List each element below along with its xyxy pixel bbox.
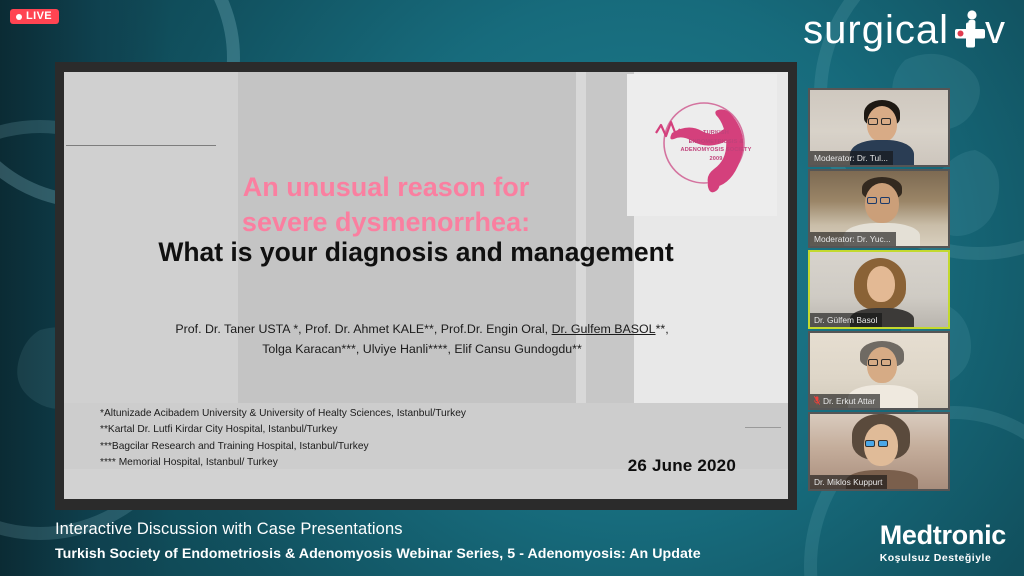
sponsor-name: Medtronic	[880, 522, 1006, 549]
sponsor-tagline: Koşulsuz Desteğiyle	[880, 552, 1006, 564]
live-dot-icon	[16, 14, 22, 20]
participant-name: Dr. Erkut Attar	[823, 396, 875, 407]
glasses-icon	[868, 118, 891, 125]
participant-name: Moderator: Dr. Tul...	[814, 153, 888, 164]
live-label: LIVE	[26, 11, 52, 22]
participant-name-label: Dr. Gülfem Basol	[810, 313, 882, 328]
microphone-muted-icon	[814, 396, 820, 405]
affiliation-item: **** Memorial Hospital, Istanbul/ Turkey	[100, 455, 466, 471]
medtronic-sponsor-logo: Medtronic Koşulsuz Desteğiyle	[880, 522, 1006, 564]
slide-top-rule	[66, 145, 216, 146]
avatar	[867, 266, 895, 302]
authors-line-1: Prof. Dr. Taner USTA *, Prof. Dr. Ahmet …	[116, 319, 728, 339]
webinar-stream-view: LIVE surgical v	[0, 0, 1024, 576]
authors-part-b: **,	[656, 322, 669, 336]
slide-title-line1: An unusual reason for	[124, 170, 648, 205]
participant-tile[interactable]: Moderator: Dr. Tul...	[808, 88, 950, 167]
society-logo-text: TURKISH ENDOMETRIOSIS & ADENOMYOSIS SOCI…	[680, 129, 752, 164]
participant-tile[interactable]: Dr. Erkut Attar	[808, 331, 950, 410]
participant-name-label: Moderator: Dr. Yuc...	[810, 232, 896, 247]
slide-date: 26 June 2020	[628, 456, 736, 476]
authors-highlighted-presenter: Dr. Gulfem BASOL	[552, 322, 656, 336]
banner-series-subtitle: Turkish Society of Endometriosis & Adeno…	[55, 546, 701, 562]
slide-title: An unusual reason for severe dysmenorrhe…	[64, 170, 788, 240]
slide-title-line2: severe dysmenorrhea:	[124, 205, 648, 240]
participant-name-label: Dr. Erkut Attar	[810, 394, 880, 409]
participant-tile[interactable]: Dr. Miklos Kuppurt	[808, 412, 950, 491]
glasses-icon	[865, 440, 888, 447]
glasses-icon	[867, 197, 890, 204]
slide-authors: Prof. Dr. Taner USTA *, Prof. Dr. Ahmet …	[116, 319, 728, 359]
participant-tile[interactable]: Moderator: Dr. Yuc...	[808, 169, 950, 248]
bottom-banner: Interactive Discussion with Case Present…	[0, 510, 1024, 576]
banner-session-title: Interactive Discussion with Case Present…	[55, 520, 403, 539]
authors-part-a: Prof. Dr. Taner USTA *, Prof. Dr. Ahmet …	[175, 322, 551, 336]
brand-word: surgical	[803, 10, 949, 50]
authors-line-2: Tolga Karacan***, Ulviye Hanli****, Elif…	[116, 339, 728, 359]
participant-tile-active-speaker[interactable]: Dr. Gülfem Basol	[808, 250, 950, 329]
participant-name: Dr. Miklos Kuppurt	[814, 477, 882, 488]
shared-screen-stage[interactable]: TURKISH ENDOMETRIOSIS & ADENOMYOSIS SOCI…	[55, 62, 797, 510]
participant-name: Dr. Gülfem Basol	[814, 315, 877, 326]
slide-affiliations: *Altunizade Acibadem University & Univer…	[100, 406, 466, 471]
slide-date-rule	[745, 427, 781, 428]
glasses-icon	[868, 359, 891, 366]
surgical-brand-logo: surgical v	[803, 8, 1006, 52]
affiliation-item: ***Bagcilar Research and Training Hospit…	[100, 439, 466, 455]
presentation-slide: TURKISH ENDOMETRIOSIS & ADENOMYOSIS SOCI…	[64, 72, 788, 499]
participant-name-label: Dr. Miklos Kuppurt	[810, 475, 887, 490]
live-badge: LIVE	[10, 9, 59, 24]
affiliation-item: **Kartal Dr. Lutfi Kirdar City Hospital,…	[100, 422, 466, 438]
participant-video-strip: Moderator: Dr. Tul... Moderator: Dr. Yuc…	[808, 88, 950, 491]
affiliation-item: *Altunizade Acibadem University & Univer…	[100, 406, 466, 422]
participant-name-label: Moderator: Dr. Tul...	[810, 151, 893, 166]
participant-name: Moderator: Dr. Yuc...	[814, 234, 891, 245]
slide-subtitle: What is your diagnosis and management	[64, 237, 788, 268]
surgical-cross-person-icon	[949, 8, 991, 52]
